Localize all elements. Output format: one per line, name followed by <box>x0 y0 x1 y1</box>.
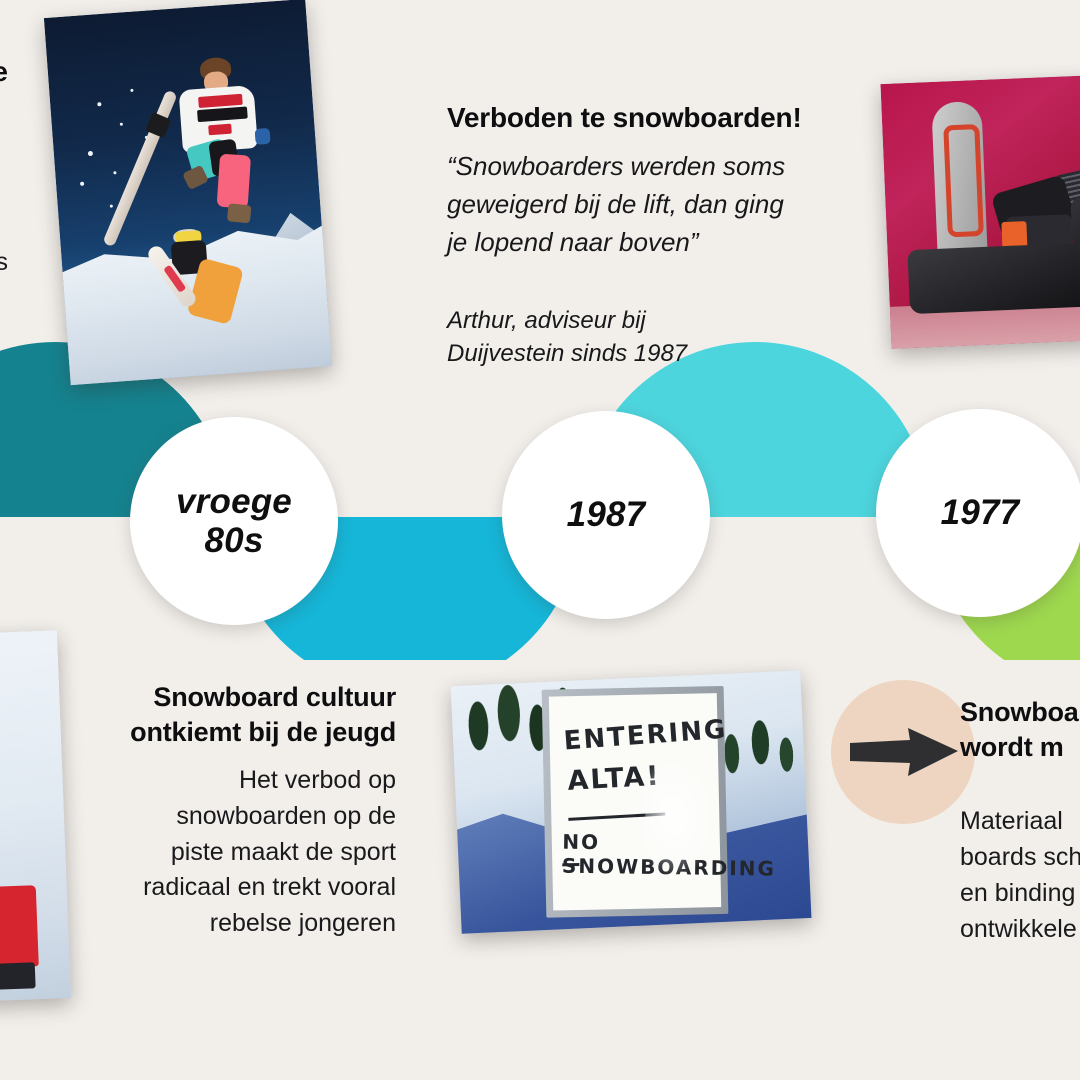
piste-person-jacket <box>0 885 39 968</box>
clipped-left-body-fragment: s <box>0 248 8 277</box>
quote-body: “Snowboarders werden soms geweigerd bij … <box>447 148 847 262</box>
sign-glare <box>644 753 717 879</box>
culture-block: Snowboard cultuur ontkiemt bij de jeugd … <box>58 680 396 942</box>
milestone-label: vroege 80s <box>176 482 292 560</box>
snow-spray-dot <box>80 181 84 185</box>
rider-boot-rear <box>227 203 252 223</box>
rider-pants-pink <box>217 154 252 209</box>
binding-highback <box>931 101 988 267</box>
infographic-canvas: ENTERING ALTA! NO SNOWBOARDING vroege 80… <box>0 0 1080 1080</box>
crouching-rider <box>159 224 267 356</box>
culture-body: Het verbod op snowboarden op de piste ma… <box>58 763 396 942</box>
sign-face: ENTERING ALTA! NO SNOWBOARDING <box>549 693 721 911</box>
material-title: Snowboa wordt m <box>960 695 1080 765</box>
entering-alta-no-snowboarding-sign-photo: ENTERING ALTA! NO SNOWBOARDING <box>451 670 812 934</box>
clipped-left-title-fragment: e <box>0 56 8 88</box>
airborne-rider <box>168 53 285 237</box>
culture-title: Snowboard cultuur ontkiemt bij de jeugd <box>58 680 396 749</box>
binding-baseplate <box>907 242 1080 313</box>
timeline-milestone-1987[interactable]: 1987 <box>502 411 710 619</box>
quote-block: Verboden te snowboarden! “Snowboarders w… <box>447 100 847 371</box>
piste-person-legs <box>0 962 35 989</box>
rider-glove <box>255 128 271 145</box>
sweatshirt-logo-bottom <box>208 123 232 135</box>
vintage-snowboarder-jump-photo <box>44 0 332 385</box>
timeline-milestone-1977[interactable]: 1977 <box>876 409 1080 617</box>
arrow-right-icon <box>848 726 960 778</box>
quote-attribution: Arthur, adviseur bij Duijvestein sinds 1… <box>447 304 847 371</box>
milestone-label: 1987 <box>567 495 646 534</box>
arrow-badge <box>831 680 975 824</box>
quote-title: Verboden te snowboarden! <box>447 100 847 135</box>
material-body: Materiaal boards sch en binding ontwikke… <box>960 803 1080 947</box>
sign-frame: ENTERING ALTA! NO SNOWBOARDING <box>541 686 728 918</box>
sign-underline-no <box>562 863 579 866</box>
sign-line-entering: ENTERING <box>562 714 728 756</box>
milestone-label: 1977 <box>941 493 1020 532</box>
material-block: Snowboa wordt m Materiaal boards sch en … <box>960 695 1080 947</box>
vintage-snowboard-binding-photo <box>880 74 1080 349</box>
timeline-milestone-early-80s[interactable]: vroege 80s <box>130 417 338 625</box>
